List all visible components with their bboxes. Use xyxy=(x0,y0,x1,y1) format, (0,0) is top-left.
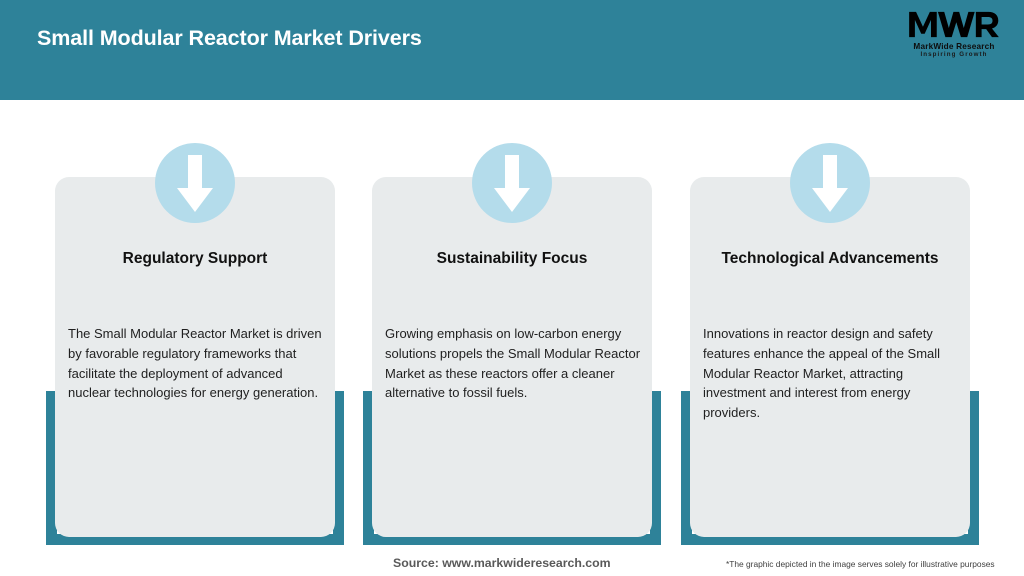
disclaimer-label: *The graphic depicted in the image serve… xyxy=(726,559,995,569)
card-description: The Small Modular Reactor Market is driv… xyxy=(68,324,326,403)
driver-card-regulatory-support[interactable]: Regulatory Support The Small Modular Rea… xyxy=(46,100,344,546)
driver-card-technological-advancements[interactable]: Technological Advancements Innovations i… xyxy=(681,100,979,546)
arrow-down-glyph xyxy=(494,155,530,212)
arrow-down-icon xyxy=(155,143,235,223)
arrow-down-icon xyxy=(790,143,870,223)
card-title: Sustainability Focus xyxy=(375,249,649,268)
mwr-logo-icon xyxy=(908,8,1000,41)
card-description: Growing emphasis on low-carbon energy so… xyxy=(385,324,643,403)
card-title: Technological Advancements xyxy=(693,249,967,268)
logo-tagline: Inspiring Growth xyxy=(902,51,1006,58)
page-title: Small Modular Reactor Market Drivers xyxy=(37,26,422,51)
brand-logo: MarkWide Research Inspiring Growth xyxy=(902,8,1006,66)
card-description: Innovations in reactor design and safety… xyxy=(703,324,961,423)
header-bar: Small Modular Reactor Market Drivers Mar… xyxy=(0,0,1024,100)
card-title: Regulatory Support xyxy=(58,249,332,268)
arrow-down-glyph xyxy=(812,155,848,212)
arrow-down-icon xyxy=(472,143,552,223)
driver-card-sustainability-focus[interactable]: Sustainability Focus Growing emphasis on… xyxy=(363,100,661,546)
logo-company-name: MarkWide Research xyxy=(902,42,1006,51)
drivers-card-grid: Regulatory Support The Small Modular Rea… xyxy=(0,100,1024,546)
source-label: Source: www.markwideresearch.com xyxy=(393,556,611,570)
arrow-down-glyph xyxy=(177,155,213,212)
